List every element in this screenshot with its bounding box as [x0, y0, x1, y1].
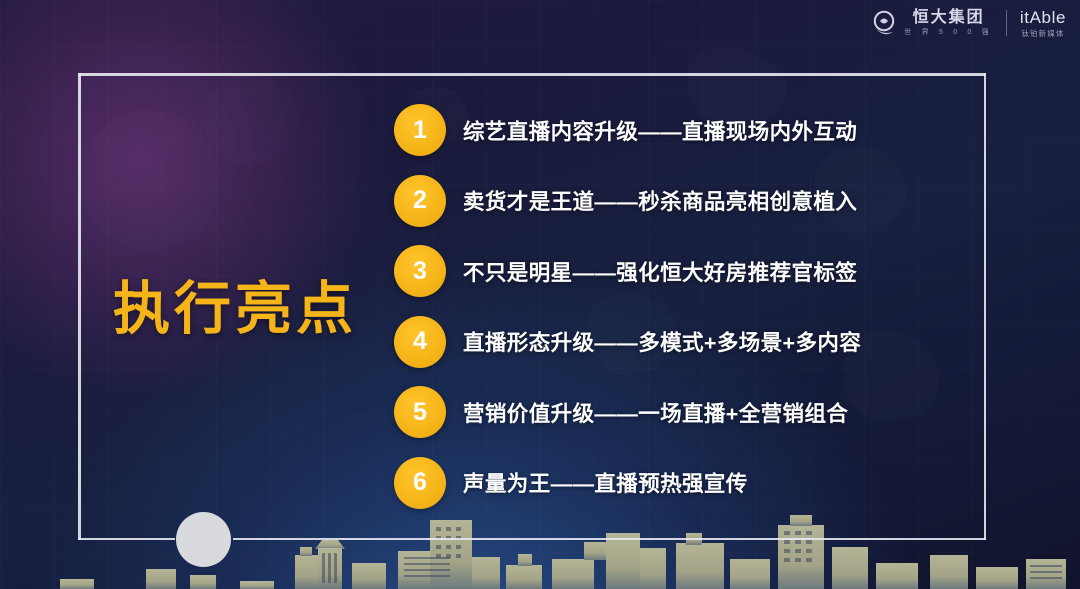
list-item: 1 综艺直播内容升级——直播现场内外互动: [394, 104, 974, 156]
list-item: 3 不只是明星——强化恒大好房推荐官标签: [394, 245, 974, 297]
list-item-label: 卖货才是王道——秒杀商品亮相创意植入: [463, 185, 857, 216]
list-item: 5 营销价值升级——一场直播+全营销组合: [394, 386, 974, 438]
list-item: 6 声量为王——直播预热强宣传: [394, 457, 974, 509]
evergrande-name: 恒大集团: [913, 10, 985, 26]
header-logo-bar: 恒大集团 世 界 5 0 0 强 itAble 钛铂新媒体: [0, 0, 1080, 46]
frame-bottom-left-edge: [78, 538, 175, 541]
evergrande-logo: 恒大集团 世 界 5 0 0 强: [871, 10, 993, 36]
list-item: 4 直播形态升级——多模式+多场景+多内容: [394, 316, 974, 368]
list-item-number-badge: 2: [394, 175, 446, 227]
list-item-label: 不只是明星——强化恒大好房推荐官标签: [463, 256, 857, 287]
logo-group: 恒大集团 世 界 5 0 0 强 itAble 钛铂新媒体: [871, 9, 1066, 38]
itable-subtitle: 钛铂新媒体: [1021, 30, 1064, 38]
evergrande-wordmark: 恒大集团 世 界 5 0 0 强: [904, 10, 993, 36]
list-item-number-badge: 6: [394, 457, 446, 509]
list-item-number-badge: 5: [394, 386, 446, 438]
itable-name: itAble: [1020, 9, 1066, 26]
frame-top-edge: [78, 73, 986, 76]
highlight-list: 1 综艺直播内容升级——直播现场内外互动 2 卖货才是王道——秒杀商品亮相创意植…: [394, 104, 974, 527]
frame-bottom-right-edge: [233, 538, 986, 541]
page-title: 执行亮点: [113, 281, 357, 338]
list-item-label: 综艺直播内容升级——直播现场内外互动: [463, 115, 857, 146]
frame-left-edge: [78, 73, 81, 540]
list-item: 2 卖货才是王道——秒杀商品亮相创意植入: [394, 175, 974, 227]
frame-circle-marker: [176, 512, 231, 567]
list-item-label: 直播形态升级——多模式+多场景+多内容: [463, 326, 861, 357]
logo-divider: [1006, 10, 1007, 36]
list-item-label: 营销价值升级——一场直播+全营销组合: [463, 397, 848, 428]
list-item-number-badge: 4: [394, 316, 446, 368]
frame-right-edge: [984, 73, 987, 540]
presentation-slide: 恒大集团 世 界 5 0 0 强 itAble 钛铂新媒体: [0, 0, 1080, 589]
list-item-number-badge: 1: [394, 104, 446, 156]
eg-logo-icon: [871, 10, 897, 36]
list-item-number-badge: 3: [394, 245, 446, 297]
itable-logo: itAble 钛铂新媒体: [1020, 9, 1066, 38]
evergrande-subtitle: 世 界 5 0 0 强: [904, 29, 993, 36]
list-item-label: 声量为王——直播预热强宣传: [463, 467, 748, 498]
